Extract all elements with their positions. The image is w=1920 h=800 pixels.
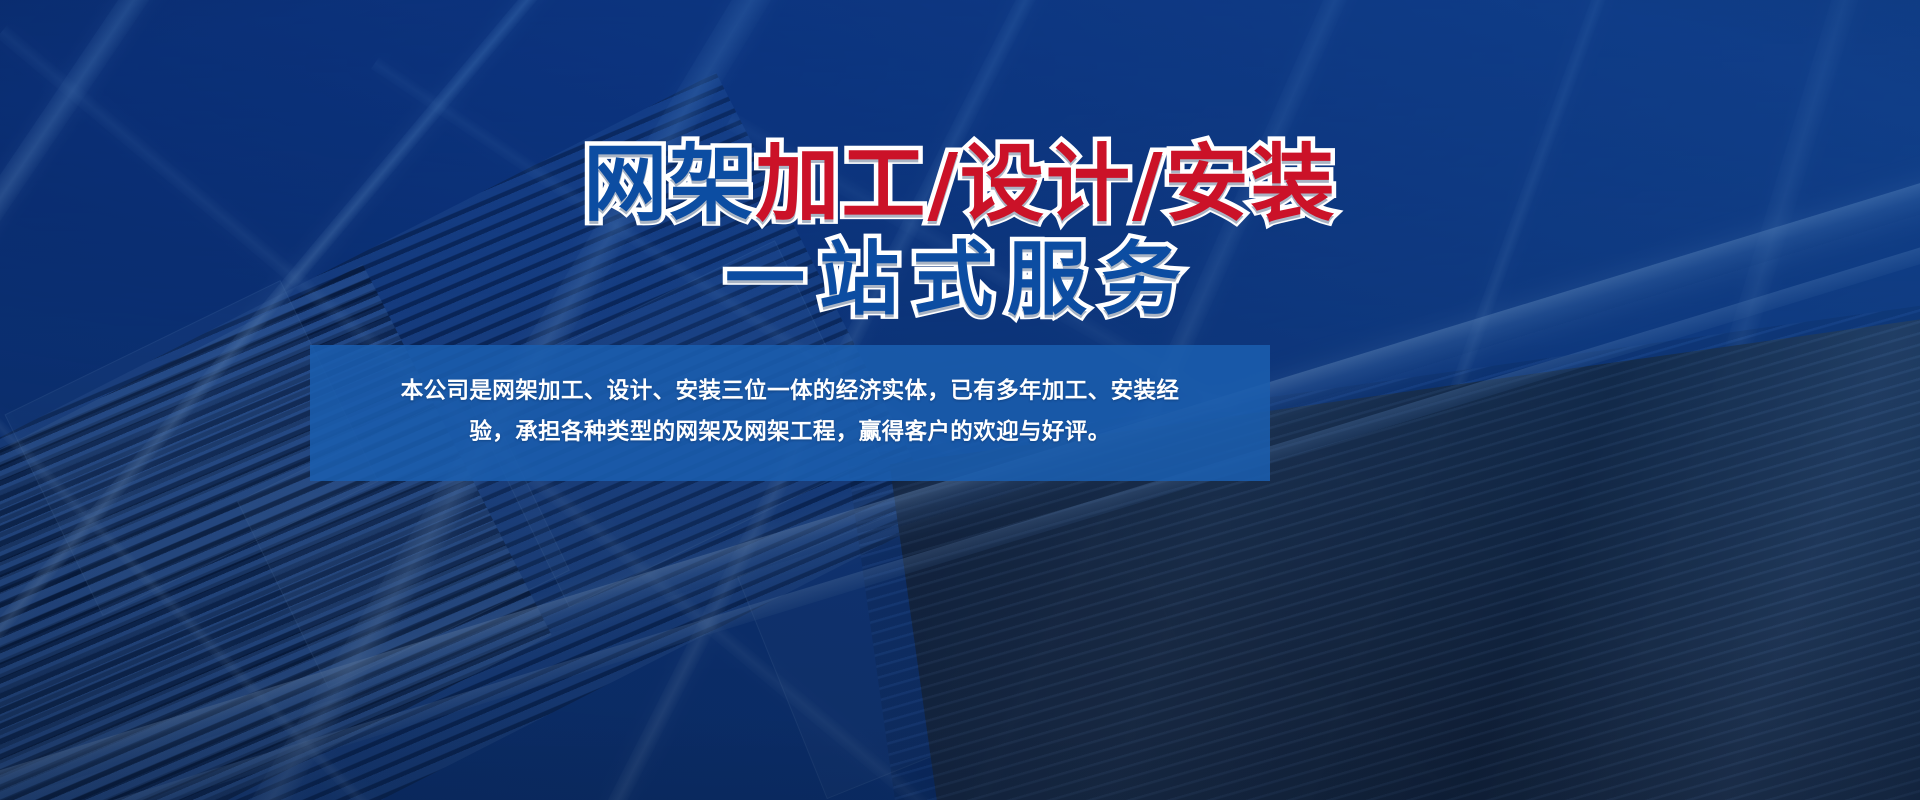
headline: 网架加工/设计/安装 一站式服务 — [0, 142, 1920, 320]
hero-banner: 网架加工/设计/安装 一站式服务 本公司是网架加工、设计、安装三位一体的经济实体… — [0, 0, 1920, 800]
description-line-2: 验，承担各种类型的网架及网架工程，赢得客户的欢迎与好评。 — [469, 412, 1110, 453]
headline-line-1: 网架加工/设计/安装 — [0, 142, 1920, 226]
description-box: 本公司是网架加工、设计、安装三位一体的经济实体，已有多年加工、安装经 验，承担各… — [310, 345, 1270, 481]
banner-content: 网架加工/设计/安装 一站式服务 本公司是网架加工、设计、安装三位一体的经济实体… — [0, 0, 1920, 800]
headline-line-2: 一站式服务 — [0, 240, 1920, 320]
headline-segment-red: 加工/设计/安装 — [755, 142, 1336, 226]
description-line-1: 本公司是网架加工、设计、安装三位一体的经济实体，已有多年加工、安装经 — [401, 371, 1180, 412]
headline-segment-blue: 网架 — [583, 142, 755, 226]
headline-subtitle-text: 一站式服务 — [725, 240, 1195, 320]
